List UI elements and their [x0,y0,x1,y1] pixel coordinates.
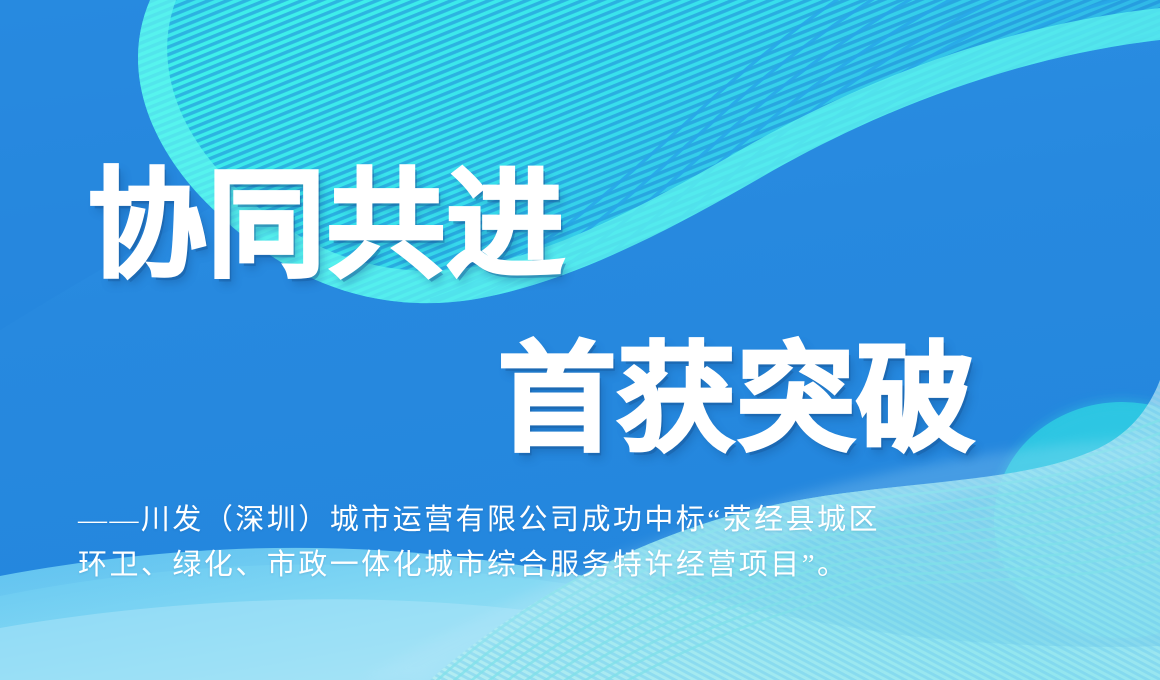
headline-line-1: 协同共进 [88,166,566,284]
poster-canvas: 协同共进 首获突破 ——川发（深圳）城市运营有限公司成功中标“荥经县城区 环卫、… [0,0,1160,680]
subtitle-block: ——川发（深圳）城市运营有限公司成功中标“荥经县城区 环卫、绿化、市政一体化城市… [78,498,1090,588]
subtitle-line-1: ——川发（深圳）城市运营有限公司成功中标“荥经县城区 [78,498,1090,543]
headline-line-2: 首获突破 [498,340,976,458]
poster-content: 协同共进 首获突破 ——川发（深圳）城市运营有限公司成功中标“荥经县城区 环卫、… [0,0,1160,680]
subtitle-line-2: 环卫、绿化、市政一体化城市综合服务特许经营项目”。 [78,543,1090,588]
